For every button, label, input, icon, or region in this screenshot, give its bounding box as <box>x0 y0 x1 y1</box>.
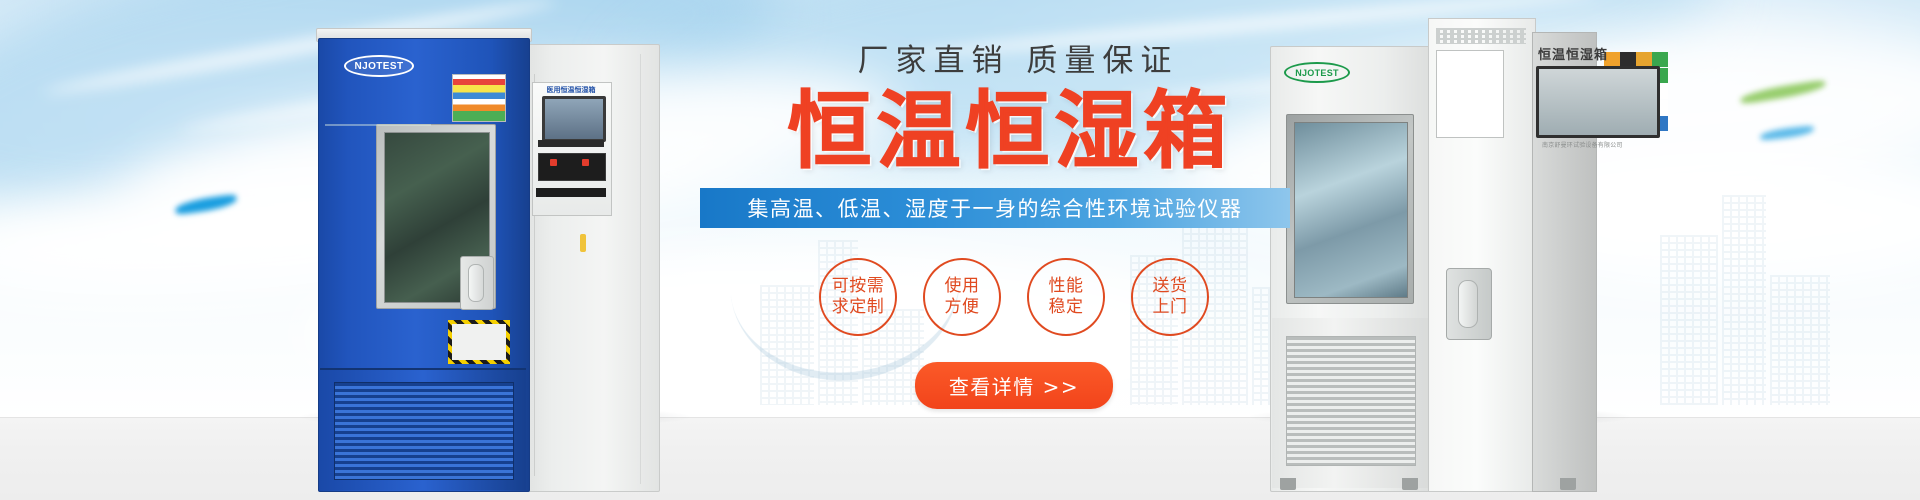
status-led <box>550 159 557 166</box>
feature-badge-easy-use[interactable]: 使用 方便 <box>923 258 1001 336</box>
cabinet-knob <box>580 234 586 252</box>
safety-label <box>452 74 506 122</box>
badge-line-2: 上门 <box>1153 297 1188 318</box>
banner-copy: 厂家直销 质量保证 恒温恒湿箱 集高温、低温、湿度于一身的综合性环境试验仪器 可… <box>700 46 1320 409</box>
brand-logo: NJOTEST <box>344 55 414 77</box>
subtitle-text: 集高温、低温、湿度于一身的综合性环境试验仪器 <box>748 193 1243 223</box>
feature-badge-delivery[interactable]: 送货 上门 <box>1131 258 1209 336</box>
feature-badge-list: 可按需 求定制 使用 方便 性能 稳定 送货 上门 <box>700 258 1320 336</box>
safety-label <box>1436 50 1504 138</box>
cabinet-foot <box>1560 478 1576 490</box>
badge-line-1: 使用 <box>945 276 980 297</box>
badge-line-2: 求定制 <box>832 297 885 318</box>
warning-sticker <box>448 320 510 364</box>
button-row <box>538 153 606 181</box>
tagline: 厂家直销 质量保证 <box>716 46 1320 77</box>
base-vent-grill <box>334 382 514 480</box>
door-handle-grip <box>1458 280 1478 328</box>
blue-accent-shape <box>1760 125 1815 141</box>
cabinet-foot <box>1280 478 1296 490</box>
cta-container: 查看详情 >> <box>700 362 1320 409</box>
door-shelf-line <box>325 124 431 126</box>
controller-screen <box>542 96 606 142</box>
control-panel-title: 恒温恒湿箱 <box>1538 44 1608 63</box>
headline: 恒温恒湿箱 <box>700 87 1320 176</box>
status-led <box>582 159 589 166</box>
controller-screen <box>1536 66 1660 138</box>
product-image-left: NJOTEST 医用恒温恒湿箱 <box>318 38 658 490</box>
badge-line-1: 性能 <box>1049 276 1084 297</box>
badge-line-1: 可按需 <box>832 276 885 297</box>
badge-line-2: 方便 <box>945 297 980 318</box>
feature-badge-custom[interactable]: 可按需 求定制 <box>819 258 897 336</box>
cabinet-foot <box>1402 478 1418 490</box>
panel-footer-bar <box>536 188 606 197</box>
floor-strip <box>0 417 1920 500</box>
panel-strip <box>538 140 604 147</box>
door-handle-grip <box>468 264 484 302</box>
badge-line-1: 送货 <box>1153 276 1188 297</box>
brand-logo-text: NJOTEST <box>355 61 404 72</box>
vent-slots <box>1436 28 1526 44</box>
subtitle-bar: 集高温、低温、湿度于一身的综合性环境试验仪器 <box>700 188 1290 228</box>
promo-banner: NJOTEST 医用恒温恒湿箱 NJOTEST <box>0 0 1920 500</box>
panel-seam <box>640 54 641 484</box>
view-details-button[interactable]: 查看详情 >> <box>915 362 1113 409</box>
green-accent-shape <box>1740 79 1827 104</box>
feature-badge-stable[interactable]: 性能 稳定 <box>1027 258 1105 336</box>
blue-accent-shape <box>174 194 237 216</box>
control-panel: 恒温恒湿箱 南京舒曼环试验设备有限公司 <box>1536 44 1686 148</box>
control-panel-title: 医用恒温恒湿箱 <box>536 85 606 95</box>
badge-line-2: 稳定 <box>1049 297 1084 318</box>
manufacturer-text: 南京舒曼环试验设备有限公司 <box>1542 140 1623 149</box>
